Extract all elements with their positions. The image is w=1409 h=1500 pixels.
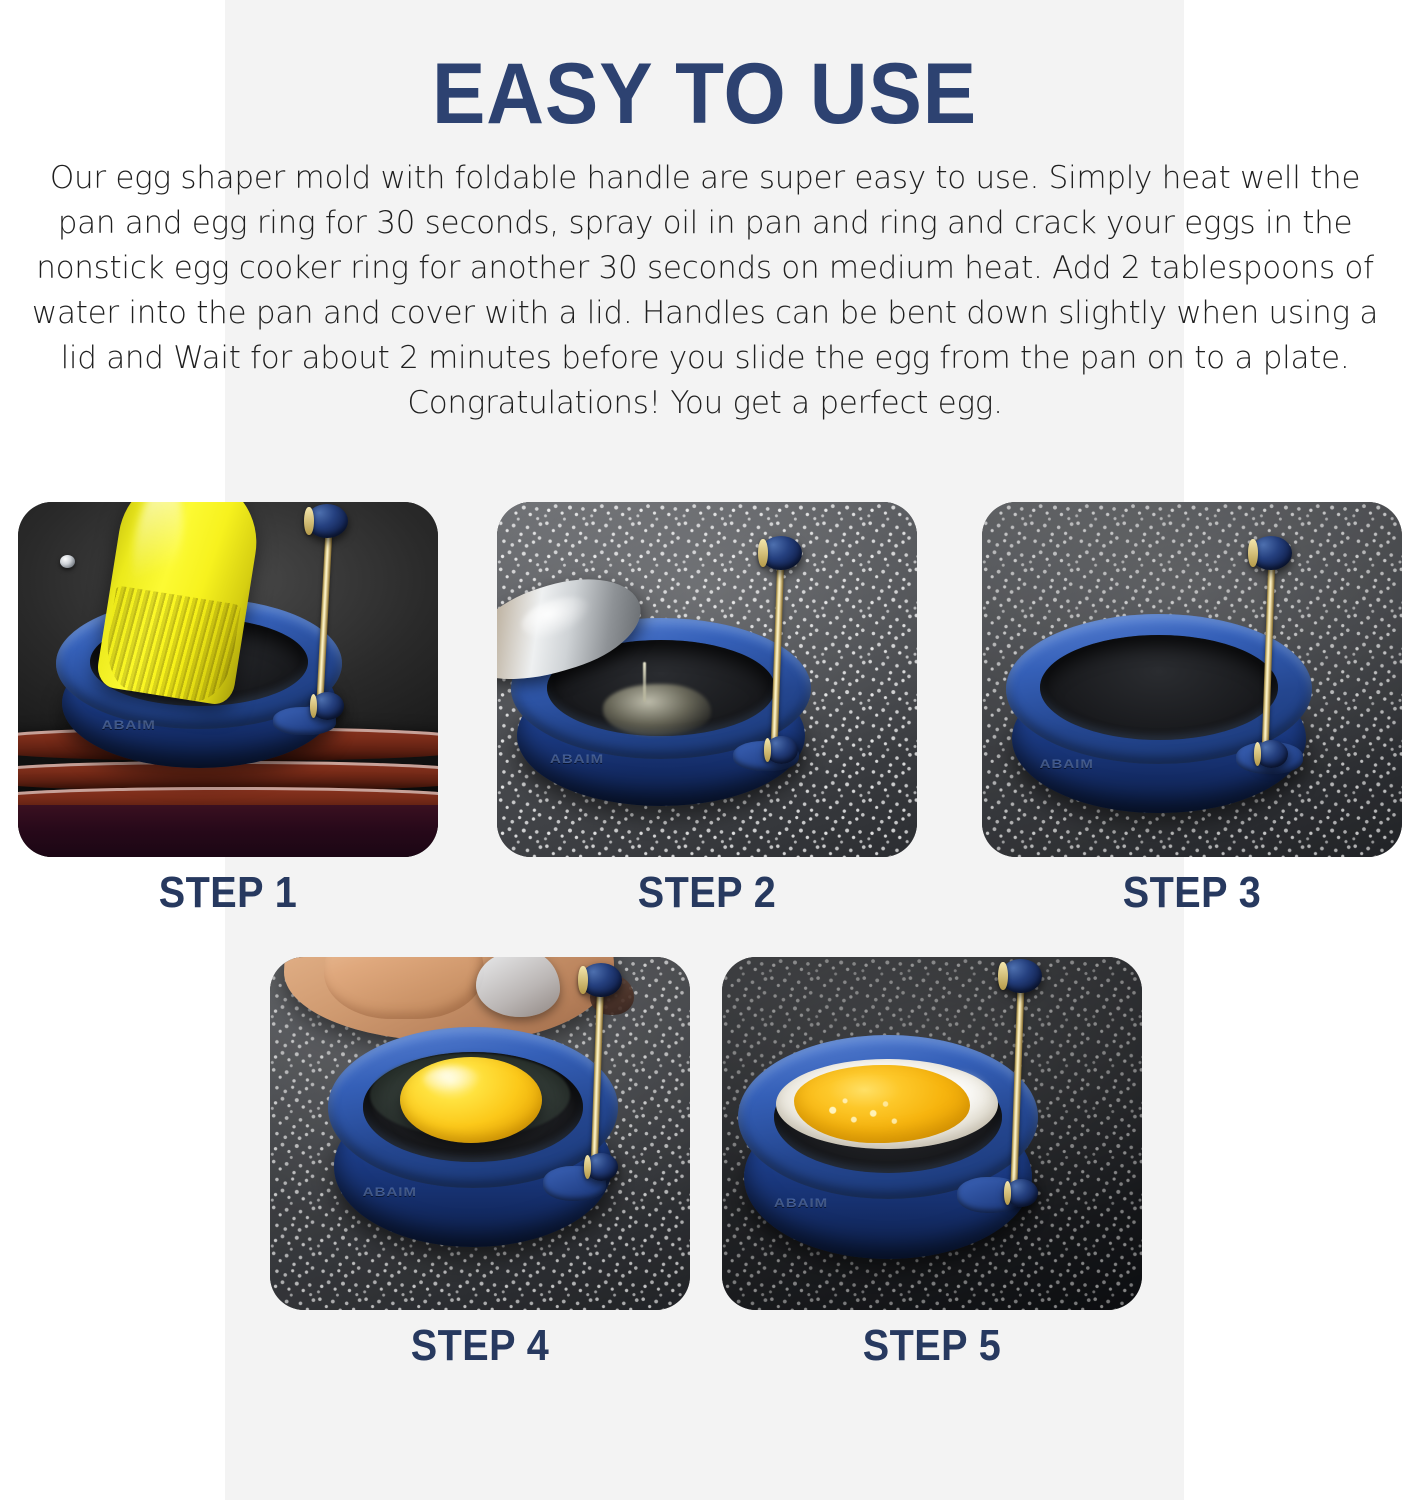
step-card-4: ABAIM STEP 4 xyxy=(270,957,690,1372)
step-4-photo: ABAIM xyxy=(270,957,690,1310)
step-3-label: STEP 3 xyxy=(1003,867,1381,919)
step-card-2: ABAIM STEP 2 xyxy=(497,502,917,919)
counter-surface xyxy=(18,805,438,857)
infographic-page: EASY TO USE Our egg shaper mold with fol… xyxy=(0,0,1409,1500)
step-5-label: STEP 5 xyxy=(743,1320,1121,1372)
handle-knob-bottom-1 xyxy=(311,692,344,720)
handle-knob-bottom-2 xyxy=(765,736,798,764)
oil-pool xyxy=(603,684,711,736)
step-card-1: ABAIM STEP 1 xyxy=(18,502,438,919)
yolk-bubbles xyxy=(794,1065,970,1143)
handle-knob-bottom-5 xyxy=(1005,1179,1038,1207)
handle-knob-top-4 xyxy=(580,963,622,997)
spoon-highlight xyxy=(517,590,596,644)
handle-knob-bottom-3 xyxy=(1255,740,1288,768)
step-card-5: ABAIM STEP 5 xyxy=(722,957,1142,1372)
step-1-photo: ABAIM xyxy=(18,502,438,857)
egg-shell xyxy=(476,957,560,1017)
step-card-3: ABAIM STEP 3 xyxy=(982,502,1402,919)
step-3-photo: ABAIM xyxy=(982,502,1402,857)
page-title: EASY TO USE xyxy=(49,0,1359,142)
cooked-egg-yolk xyxy=(794,1065,970,1143)
handle-knob-top-3 xyxy=(1250,536,1292,570)
yolk-highlight xyxy=(423,1066,483,1094)
step-4-label: STEP 4 xyxy=(291,1320,669,1372)
raw-egg-yolk xyxy=(400,1057,542,1143)
step-5-photo: ABAIM xyxy=(722,957,1142,1310)
handle-knob-bottom-4 xyxy=(585,1153,618,1181)
step-2-label: STEP 2 xyxy=(518,867,896,919)
handle-knob-top-5 xyxy=(1000,959,1042,993)
step-2-photo: ABAIM xyxy=(497,502,917,857)
intro-paragraph: Our egg shaper mold with foldable handle… xyxy=(17,156,1392,426)
handle-knob-top-2 xyxy=(760,536,802,570)
ring-opening xyxy=(1040,635,1279,740)
content-wrapper: EASY TO USE Our egg shaper mold with fol… xyxy=(0,0,1409,426)
handle-knob-top-1 xyxy=(306,504,348,538)
oil-drip xyxy=(643,662,646,702)
step-1-label: STEP 1 xyxy=(39,867,417,919)
